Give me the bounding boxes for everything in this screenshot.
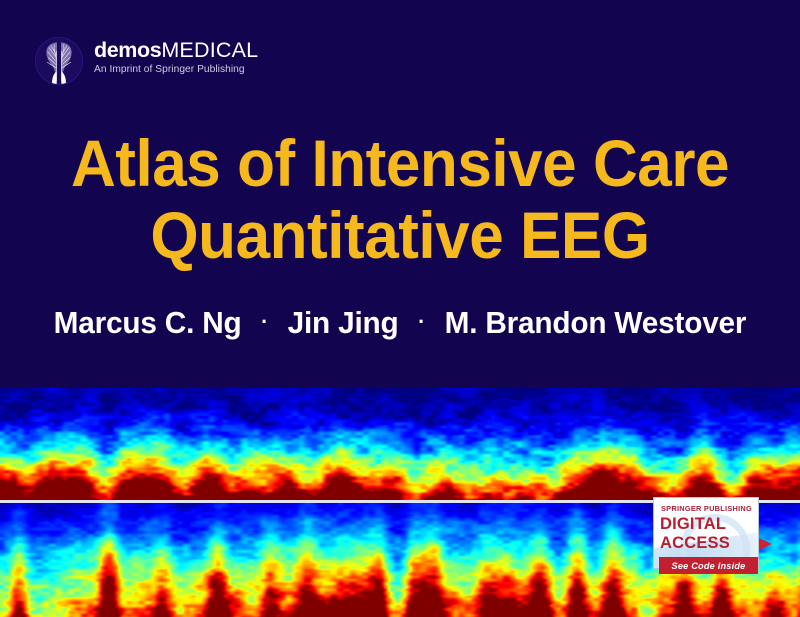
book-title-line-2: Quantitative EEG bbox=[24, 199, 776, 271]
publisher-name-bold: demos bbox=[94, 38, 161, 62]
badge-headline-line-2: ACCESS bbox=[660, 534, 730, 552]
title-block: demosMEDICAL An Imprint of Springer Publ… bbox=[0, 0, 800, 388]
publisher-logotype: demosMEDICAL An Imprint of Springer Publ… bbox=[94, 39, 294, 76]
book-cover: demosMEDICAL An Imprint of Springer Publ… bbox=[0, 0, 800, 617]
publisher-name: demosMEDICAL bbox=[94, 39, 294, 62]
badge-headline-line-1: DIGITAL bbox=[660, 515, 726, 533]
author-list: Marcus C. Ng · Jin Jing · M. Brandon Wes… bbox=[16, 304, 784, 345]
see-code-inside-label: See Code Inside bbox=[672, 561, 746, 571]
author-1: Marcus C. Ng bbox=[54, 305, 242, 340]
digital-access-badge[interactable]: SPRINGER PUBLISHING DIGITAL ACCESS See C… bbox=[653, 497, 772, 579]
author-3: M. Brandon Westover bbox=[445, 305, 747, 340]
author-2: Jin Jing bbox=[288, 305, 399, 340]
see-code-inside-ribbon[interactable]: See Code Inside bbox=[659, 557, 758, 574]
tree-circle-logo-icon bbox=[34, 35, 84, 87]
author-separator-2: · bbox=[407, 303, 437, 341]
book-title: Atlas of Intensive Care Quantitative EEG bbox=[24, 127, 776, 271]
badge-publisher-label: SPRINGER PUBLISHING bbox=[661, 504, 752, 513]
author-separator-1: · bbox=[250, 303, 280, 341]
book-title-line-1: Atlas of Intensive Care bbox=[24, 127, 776, 199]
publisher-name-light: MEDICAL bbox=[161, 38, 258, 62]
publisher-logo: demosMEDICAL An Imprint of Springer Publ… bbox=[34, 33, 294, 95]
top-spectrogram-canvas bbox=[0, 388, 800, 500]
top-spectrogram-panel bbox=[0, 388, 800, 500]
publisher-tagline: An Imprint of Springer Publishing bbox=[94, 63, 294, 76]
